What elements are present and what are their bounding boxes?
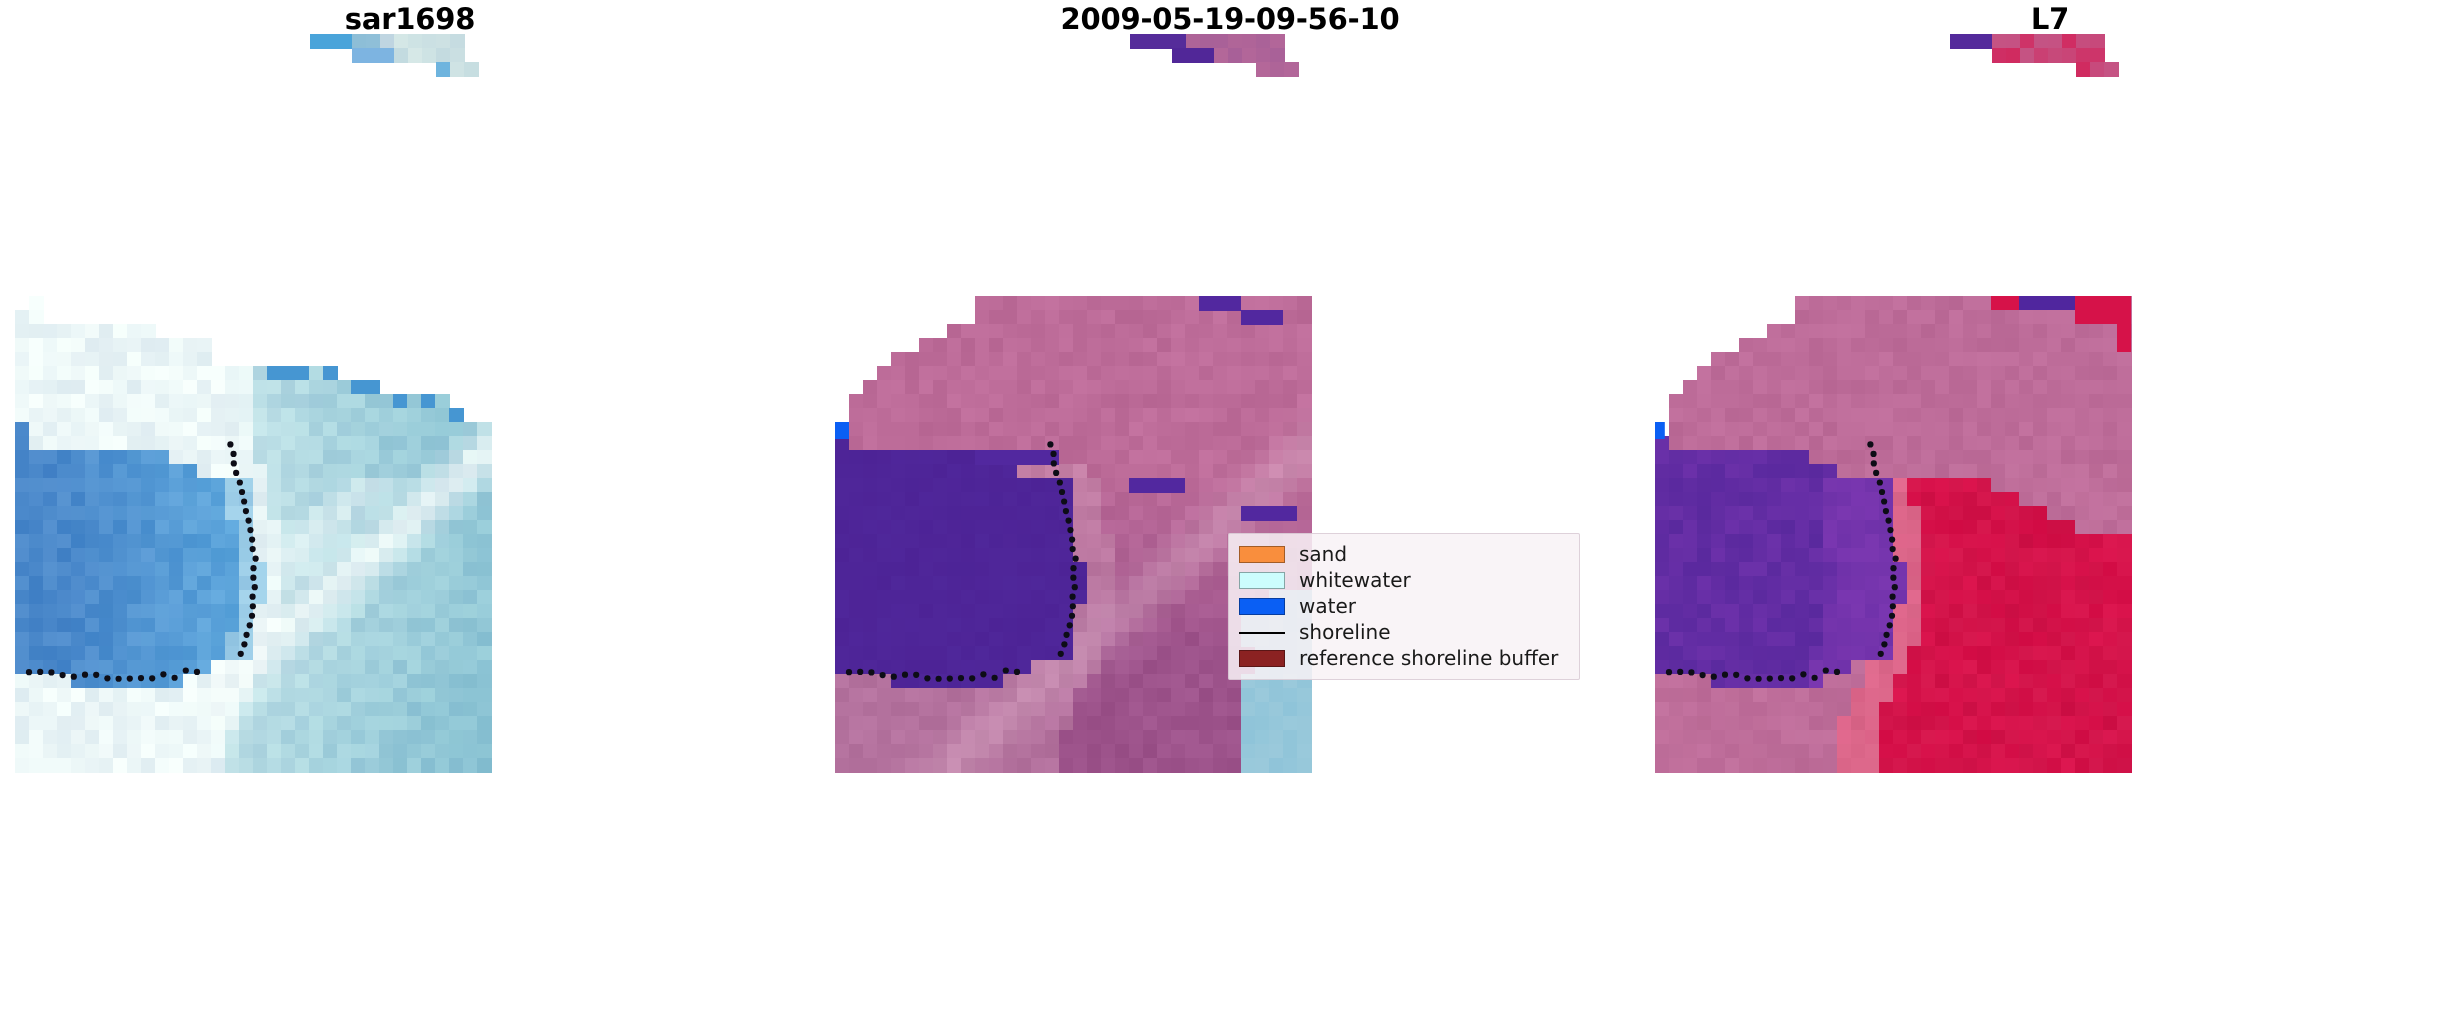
image-canvas-classification: [820, 28, 1640, 1010]
legend-label-reference-buffer: reference shoreline buffer: [1299, 647, 1558, 669]
legend-label-shoreline: shoreline: [1299, 621, 1391, 643]
legend-item-shoreline: shoreline: [1239, 619, 1569, 645]
legend-label-sand: sand: [1299, 543, 1347, 565]
image-canvas-l7: [1640, 28, 2460, 1010]
legend-swatch-whitewater-icon: [1239, 572, 1285, 589]
panel-sar1698: sar1698: [0, 0, 820, 1010]
figure-root: sar1698 2009-05-19-09-56-10 L7 sand whit…: [0, 0, 2460, 1010]
legend: sand whitewater water shoreline referenc…: [1228, 533, 1580, 680]
legend-item-water: water: [1239, 593, 1569, 619]
legend-swatch-water-icon: [1239, 598, 1285, 615]
panel-classification: 2009-05-19-09-56-10: [820, 0, 1640, 1010]
legend-label-whitewater: whitewater: [1299, 569, 1411, 591]
legend-item-whitewater: whitewater: [1239, 567, 1569, 593]
legend-item-reference-buffer: reference shoreline buffer: [1239, 645, 1569, 671]
panel-l7: L7: [1640, 0, 2460, 1010]
legend-label-water: water: [1299, 595, 1356, 617]
legend-swatch-reference-buffer-icon: [1239, 650, 1285, 667]
image-canvas-sar1698: [0, 28, 820, 1010]
legend-swatch-shoreline-icon: [1239, 624, 1285, 641]
legend-swatch-sand-icon: [1239, 546, 1285, 563]
legend-item-sand: sand: [1239, 541, 1569, 567]
